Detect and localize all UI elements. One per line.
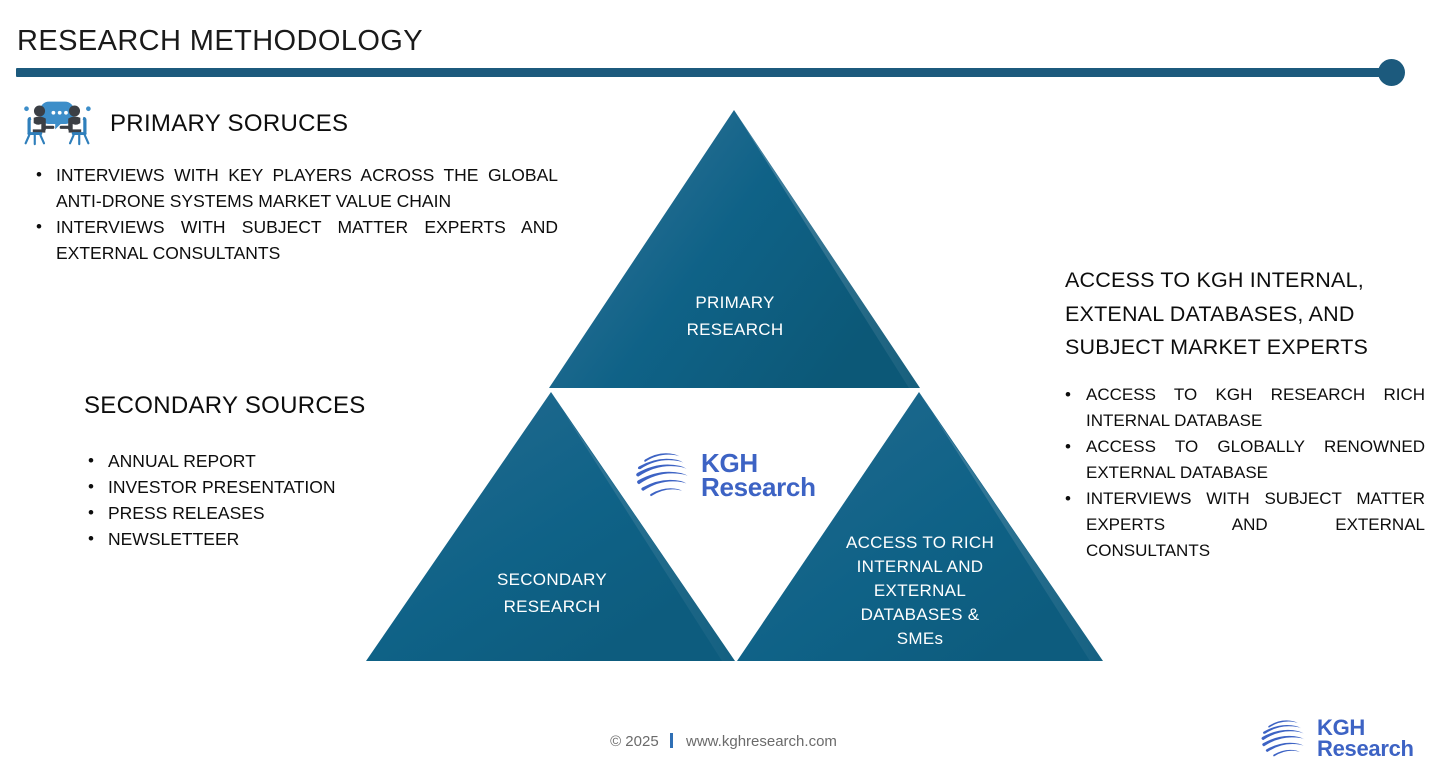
footer-website: www.kghresearch.com [686,733,837,750]
list-item: INTERVIEWS WITH SUBJECT MATTER EXPERTS A… [1050,486,1425,564]
list-item: NEWSLETTEER [18,526,488,552]
logo-wordmark: KGH Research [701,451,816,500]
page-title: RESEARCH METHODOLOGY [17,25,423,58]
triangle-primary-research [549,110,920,388]
meeting-discussion-icon [18,98,96,150]
list-item: ACCESS TO KGH RESEARCH RICH INTERNAL DAT… [1050,382,1425,434]
kgh-research-logo-footer: KGH Research [1258,712,1436,766]
list-item: INTERVIEWS WITH SUBJECT MATTER EXPERTS A… [18,214,558,266]
triangle-secondary-research-label: SECONDARY RESEARCH [437,566,667,620]
list-item: PRESS RELEASES [18,500,488,526]
globe-icon [1258,711,1310,768]
footer-separator [670,733,673,748]
database-access-heading: ACCESS TO KGH INTERNAL, EXTENAL DATABASE… [1065,264,1440,365]
primary-sources-section: PRIMARY SORUCES INTERVIEWS WITH KEY PLAY… [18,98,578,266]
database-access-list: ACCESS TO KGH RESEARCH RICH INTERNAL DAT… [1050,382,1425,564]
header-divider-rule [16,68,1394,77]
footer-credit: © 2025 www.kghresearch.com [0,733,1447,750]
secondary-sources-list: ANNUAL REPORT INVESTOR PRESENTATION PRES… [18,448,488,552]
logo-wordmark: KGH Research [1317,718,1414,759]
globe-icon [632,442,694,509]
list-item: ACCESS TO GLOBALLY RENOWNED EXTERNAL DAT… [1050,434,1425,486]
footer-copyright: © 2025 [610,733,659,750]
kgh-research-logo-center: KGH Research [632,443,844,507]
primary-sources-heading: PRIMARY SORUCES [110,110,348,138]
primary-sources-list: INTERVIEWS WITH KEY PLAYERS ACROSS THE G… [18,162,558,266]
list-item: ANNUAL REPORT [18,448,488,474]
logo-research-text: Research [1317,739,1414,760]
list-item: INTERVIEWS WITH KEY PLAYERS ACROSS THE G… [18,162,558,214]
header-divider-dot [1378,59,1405,86]
primary-sources-header: PRIMARY SORUCES [18,98,578,150]
list-item: INVESTOR PRESENTATION [18,474,488,500]
triangle-primary-research-label: PRIMARY RESEARCH [620,289,850,343]
secondary-sources-section: SECONDARY SOURCES ANNUAL REPORT INVESTOR… [18,392,488,552]
logo-research-text: Research [701,475,816,499]
secondary-sources-heading: SECONDARY SOURCES [84,392,488,420]
triangle-database-access-label: ACCESS TO RICH INTERNAL AND EXTERNAL DAT… [805,531,1035,651]
database-access-section: ACCESS TO KGH INTERNAL, EXTENAL DATABASE… [1050,264,1440,564]
